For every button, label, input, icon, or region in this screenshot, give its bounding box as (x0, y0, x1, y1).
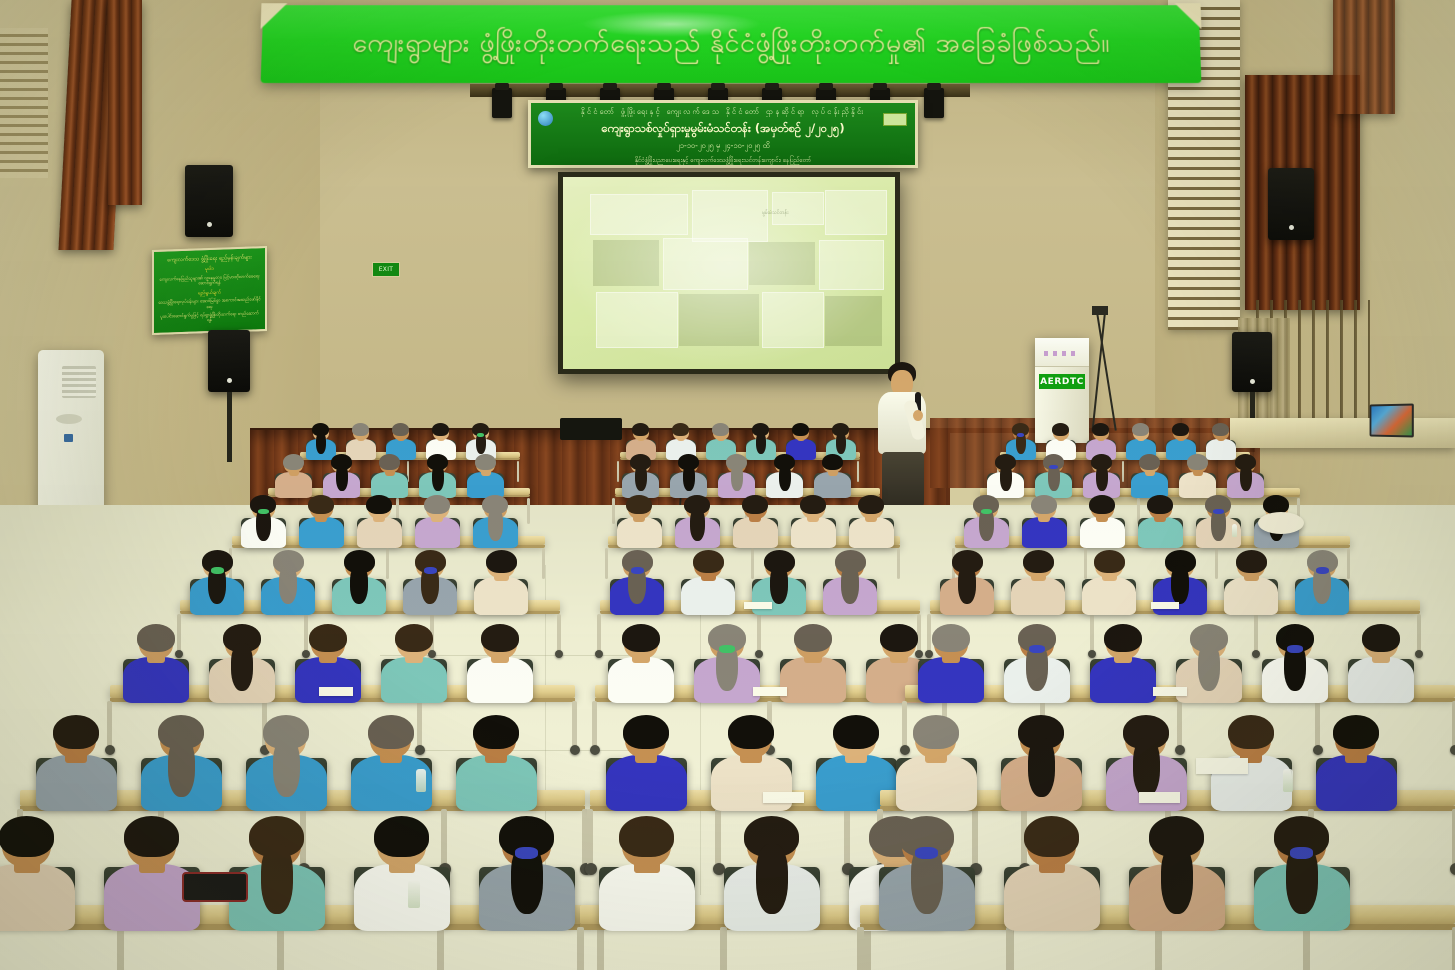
audience-hair (1139, 454, 1160, 470)
audience-hair (794, 624, 832, 652)
audience-member (241, 714, 331, 809)
audience-hair (486, 550, 517, 573)
desk-leg (117, 927, 124, 970)
audience-member (1225, 453, 1266, 497)
audience-hair (473, 715, 519, 749)
stage-banner-dates: ၂၁-၁၀-၂၀၂၅ မှ ၂၄-၁၀-၂၀၂၅ ထိ (531, 141, 915, 152)
audience-long-hair (1240, 464, 1252, 491)
paper-handout (763, 792, 804, 803)
tripod-head (1092, 306, 1108, 315)
audience-long-hair (273, 738, 300, 797)
audience-body (1011, 577, 1065, 615)
presenter (872, 362, 934, 507)
audience-hair (693, 550, 724, 573)
hair-accessory (211, 567, 224, 574)
audience-hair (712, 423, 729, 436)
audience-long-hair (690, 508, 705, 541)
audience-member (985, 453, 1026, 497)
hair-accessory (631, 567, 644, 574)
audience-member (604, 623, 678, 701)
audience-long-hair (350, 565, 368, 604)
desk-leg (857, 461, 859, 482)
audience-body (780, 657, 846, 703)
paper-handout (1196, 758, 1248, 774)
audience-body (381, 657, 447, 703)
paper-handout (319, 687, 353, 696)
audience-hair (932, 624, 970, 652)
audience-member (846, 494, 896, 547)
speaker-left-upper (185, 165, 233, 237)
audience-body (1082, 577, 1136, 615)
poster-heading-1: မူဝါဒ (158, 264, 261, 275)
desk-caster (590, 745, 600, 755)
hall-headline-banner: ကျေးရွာများ ဖွံ့ဖြိုးတိုးတက်ရေးသည် နိုင်… (261, 5, 1202, 83)
poster-title: ကျေးလက်ဒေသ ဖွံ့ဖြိုးရေး ရည်မှန်းချက်များ (158, 253, 261, 265)
audience-hair (619, 816, 674, 857)
audience-body (1090, 657, 1156, 703)
audience-hair (424, 495, 450, 514)
audience-hair (858, 495, 884, 514)
audience-member (348, 815, 455, 928)
audience-hair (53, 715, 99, 749)
audience-long-hair (1000, 464, 1012, 491)
audience-body (474, 577, 528, 615)
audience-member (601, 714, 691, 809)
audience-hair (137, 624, 175, 652)
wood-slat-panel-right-b (1333, 0, 1395, 114)
wood-slat-panel-left-b (108, 0, 142, 205)
audience-hair (728, 715, 774, 749)
audience-hair (124, 816, 179, 857)
audience-long-hair (1198, 643, 1220, 691)
audience-body (599, 864, 695, 931)
paper-handout (753, 687, 787, 696)
audience-member (620, 453, 661, 497)
audience-hair (792, 423, 809, 436)
audience-long-hair (316, 432, 326, 454)
audience-body (295, 657, 361, 703)
audience-hair (1024, 816, 1079, 857)
hair-accessory (981, 509, 992, 514)
audience-member (668, 453, 709, 497)
desk-leg (437, 927, 444, 970)
audience-member (1135, 494, 1185, 547)
audience-member (891, 714, 981, 809)
audience-member (258, 549, 319, 613)
desk-caster (1450, 863, 1455, 875)
audience-member (400, 549, 461, 613)
audience-long-hair (841, 565, 859, 604)
hair-accessory (1290, 847, 1313, 859)
audience-member (1000, 623, 1074, 701)
stage-banner-line1: နိုင်ငံတော် ဖွံ့ဖြိုးရေးနှင့် ကျေးလက်ဒေသ… (531, 107, 915, 118)
audience-member (1292, 549, 1353, 613)
audience-member (730, 494, 780, 547)
audience-hair (833, 715, 879, 749)
audience-body (918, 657, 984, 703)
audience-hair (622, 624, 660, 652)
audience-body (0, 864, 75, 931)
hair-accessory (1213, 509, 1224, 514)
audience-member (678, 549, 739, 613)
desk-leg (720, 927, 727, 970)
audience-hair (0, 816, 54, 857)
conference-hall-photo: ကျေးရွာများ ဖွံ့ဖြိုးတိုးတက်ရေးသည် နိုင်… (0, 0, 1455, 970)
hair-accessory (1287, 645, 1303, 653)
audience-member (812, 453, 853, 497)
audience-hair (623, 715, 669, 749)
desk-caster (1450, 745, 1455, 755)
audience-long-hair (261, 844, 293, 914)
audience-member (593, 815, 700, 928)
audience-member (820, 549, 881, 613)
desk-leg (542, 548, 545, 579)
paper-handout (744, 602, 772, 609)
exit-sign: EXIT (372, 262, 400, 277)
audience-member (716, 453, 757, 497)
audience-body (608, 657, 674, 703)
audience-long-hair (635, 464, 647, 491)
audience-member (1177, 453, 1218, 497)
desk-leg (557, 614, 561, 652)
audience-member (1123, 815, 1230, 928)
desk-leg (1303, 927, 1310, 970)
desk-leg (517, 461, 519, 482)
audience-hair (1132, 423, 1149, 436)
audience-member (1008, 549, 1069, 613)
audience-long-hair (836, 432, 846, 454)
audience-member (1081, 453, 1122, 497)
audience-hair (1187, 454, 1208, 470)
audience-hair (800, 495, 826, 514)
audience-body (681, 577, 735, 615)
audience-long-hair (1171, 565, 1189, 604)
audience-body (1224, 577, 1278, 615)
audience-hair (1089, 495, 1115, 514)
audience-member (451, 714, 541, 809)
stage-event-banner: နိုင်ငံတော် ဖွံ့ဖြိုးရေးနှင့် ကျေးလက်ဒေသ… (528, 100, 918, 168)
audience-member (672, 494, 722, 547)
water-bottle (408, 880, 420, 908)
audience-member (607, 549, 668, 613)
audience-long-hair (756, 844, 788, 914)
smartphone-on-desk[interactable] (182, 872, 248, 902)
audience-member (1019, 494, 1069, 547)
audience-hair (1023, 550, 1054, 573)
audience-member (273, 453, 314, 497)
audience-member (329, 549, 390, 613)
paper-handout (1139, 792, 1180, 803)
audience-member (1193, 494, 1243, 547)
audience-member (463, 623, 537, 701)
desk-leg (527, 498, 530, 524)
audience-member (31, 714, 121, 809)
audience-member (205, 623, 279, 701)
air-conditioner-unit (38, 350, 104, 515)
paper-handout (1151, 602, 1179, 609)
desk-caster (570, 745, 580, 755)
paper-handout (1153, 687, 1187, 696)
wall-poster: ကျေးလက်ဒေသ ဖွံ့ဖြိုးရေး ရည်မှန်းချက်များ… (152, 246, 267, 335)
audience-long-hair (779, 464, 791, 491)
audience-long-hair (770, 565, 788, 604)
audience-long-hair (958, 565, 976, 604)
audience-member (961, 494, 1011, 547)
hair-accessory (915, 847, 938, 859)
audience-hair (374, 816, 429, 857)
audience-hair (395, 624, 433, 652)
audience-member (473, 815, 580, 928)
audience-member (1079, 549, 1140, 613)
laptop (1370, 403, 1414, 437)
audience-hair (432, 423, 449, 436)
audience-long-hair (432, 464, 444, 491)
audience-member (412, 494, 462, 547)
audience-long-hair (1133, 738, 1160, 797)
desk-leg (864, 927, 871, 970)
ac-vent-icon (62, 366, 96, 398)
audience-member (1344, 623, 1418, 701)
audience-member (1311, 714, 1401, 809)
audience-hair (1333, 715, 1379, 749)
audience-member (417, 453, 458, 497)
audience-hair (913, 715, 959, 749)
audience-member (377, 623, 451, 701)
audience-long-hair (731, 464, 743, 491)
audience-hair (283, 454, 304, 470)
desk-caster (595, 650, 603, 658)
desk-leg (617, 461, 619, 482)
podium-nameplate: AERDTC (1039, 374, 1085, 389)
audience-member (238, 494, 288, 547)
audience-hair (1031, 495, 1057, 514)
audience-hair (366, 495, 392, 514)
stage-banner-title: ကျေးရွာသစ်လှုပ်ရှားမှုမွမ်းမံသင်တန်း (အမ… (531, 121, 915, 138)
audience-body (354, 864, 450, 931)
audience-long-hair (231, 643, 253, 691)
water-bottle (1232, 524, 1237, 537)
audience-long-hair (336, 464, 348, 491)
hair-accessory (1316, 567, 1329, 574)
poster-body-3: ပူးပေါင်းဆောင်ရွက်မှုဖြင့် ရပ်ရွာဖွံ့ဖြိ… (158, 311, 261, 326)
audience-body (123, 657, 189, 703)
laptop-screen (1371, 406, 1411, 436)
poster-body-1: ကျေးလက်နေပြည်သူများ၏ လူနေမှုဘဝ မြင့်မားတ… (158, 274, 261, 289)
desk-leg (592, 701, 597, 747)
audience-hair (1228, 715, 1274, 749)
audience-hair (1172, 423, 1189, 436)
audience-hair (368, 715, 414, 749)
audience-hair (1362, 624, 1400, 652)
audience-member (1033, 453, 1074, 497)
audience-member (764, 453, 805, 497)
banner-corner-right (1175, 3, 1202, 29)
desk-leg (1122, 461, 1124, 482)
hair-accessory (515, 847, 538, 859)
audience-member (119, 623, 193, 701)
audience-long-hair (279, 565, 297, 604)
projection-screen: မွမ်းမံသင်တန်း (563, 177, 895, 369)
screen-glare (563, 177, 895, 369)
stage-monitor (560, 418, 622, 440)
audience-long-hair (683, 464, 695, 491)
audience-hair (1236, 550, 1267, 573)
poster-body-2: ဒေသဖွံ့ဖြိုးရေးလုပ်ငန်းများ အောင်မြင်စွာ… (158, 297, 261, 312)
audience-hair (392, 423, 409, 436)
hair-accessory (719, 645, 735, 653)
audience-member (614, 494, 664, 547)
stage-banner-organizer: နိုင်ငံဖွံ့ဖြိုးပညာပေးရေးနှင့် ကျေးလက်ဒေ… (531, 156, 915, 165)
audience-hair (632, 423, 649, 436)
audience-member (296, 494, 346, 547)
hair-accessory (477, 433, 484, 437)
audience-member (187, 549, 248, 613)
audience-long-hair (1028, 738, 1055, 797)
audience-member (1129, 453, 1170, 497)
audience-member (873, 815, 980, 928)
audience-member (354, 494, 404, 547)
hair-accessory (258, 509, 269, 514)
audience-long-hair (1096, 464, 1108, 491)
audience-member (1258, 623, 1332, 701)
audience-hair (1212, 423, 1229, 436)
desk-leg (1006, 927, 1013, 970)
audience-member (465, 453, 506, 497)
audience-member (471, 549, 532, 613)
podium-controls-icon (1044, 351, 1080, 356)
water-bottle (416, 769, 426, 792)
audience-member (1221, 549, 1282, 613)
audience-member (0, 815, 80, 928)
audience-member (136, 714, 226, 809)
ac-indicator-icon (64, 434, 73, 442)
desk-leg (897, 548, 900, 579)
audience-hair (742, 495, 768, 514)
audience-hair (352, 423, 369, 436)
desk-caster (555, 650, 563, 658)
audience-body (467, 657, 533, 703)
audience-member (1077, 494, 1127, 547)
audience-member (937, 549, 998, 613)
audience-member (346, 714, 436, 809)
hall-headline-text: ကျေးရွာများ ဖွံ့ဖြိုးတိုးတက်ရေးသည် နိုင်… (338, 29, 1124, 59)
audience-hair (1094, 550, 1125, 573)
audience-hair (481, 624, 519, 652)
desk-leg (597, 614, 601, 652)
audience-body (1004, 864, 1100, 931)
audience-hair (822, 454, 843, 470)
audience-hair (1052, 423, 1069, 436)
stage-lamp (492, 88, 512, 118)
audience-member (996, 714, 1086, 809)
audience-hair (672, 423, 689, 436)
desk-leg (277, 927, 284, 970)
audience-member (914, 623, 988, 701)
desk-leg (857, 927, 864, 970)
audience-hair (1147, 495, 1173, 514)
audience-member (1248, 815, 1355, 928)
audience-hair (880, 624, 918, 652)
banner-corner-left (261, 3, 288, 29)
hair-accessory (1029, 645, 1045, 653)
white-hat-on-desk (1258, 512, 1304, 534)
audience-member (788, 494, 838, 547)
audience-long-hair (488, 508, 503, 541)
desk-leg (597, 927, 604, 970)
audience-hair (475, 454, 496, 470)
ac-panel (56, 414, 82, 424)
audience-member (470, 494, 520, 547)
water-bottle (1283, 769, 1293, 792)
desk-leg (577, 927, 584, 970)
hair-accessory (424, 567, 437, 574)
stage-lamp (924, 88, 944, 118)
audience-hair (1092, 423, 1109, 436)
audience-member (998, 815, 1105, 928)
audience-body (606, 755, 687, 811)
audience-body (1316, 755, 1397, 811)
desk-leg (572, 701, 577, 747)
hair-accessory (1017, 433, 1024, 437)
speaker-left-lower (208, 330, 250, 392)
speaker-right-upper (1268, 168, 1314, 240)
audience-member (321, 453, 362, 497)
desk-leg (1417, 614, 1421, 652)
audience-hair (1104, 624, 1142, 652)
audience-hair (309, 624, 347, 652)
audience-member (369, 453, 410, 497)
desk-leg (1215, 548, 1218, 579)
left-slat-panel (0, 28, 48, 178)
audience-long-hair (168, 738, 195, 797)
speaker-stand-left (227, 392, 232, 462)
projection-screen-frame: မွမ်းမံသင်တန်း (558, 172, 900, 374)
dais-table (1230, 418, 1455, 448)
audience-hair (626, 495, 652, 514)
audience-body (896, 755, 977, 811)
audience-body (1348, 657, 1414, 703)
speaker-right-lower (1232, 332, 1272, 392)
audience-body (456, 755, 537, 811)
audience-member (1086, 623, 1160, 701)
presenter-hand (913, 410, 923, 421)
desk-leg (1155, 927, 1162, 970)
audience-long-hair (1161, 844, 1193, 914)
audience-hair (379, 454, 400, 470)
poster-heading-2: ရည်ရွယ်ချက် (158, 288, 261, 299)
audience-member (718, 815, 825, 928)
audience-body (36, 755, 117, 811)
audience-hair (308, 495, 334, 514)
audience-long-hair (756, 432, 766, 454)
hair-accessory (1049, 465, 1058, 469)
